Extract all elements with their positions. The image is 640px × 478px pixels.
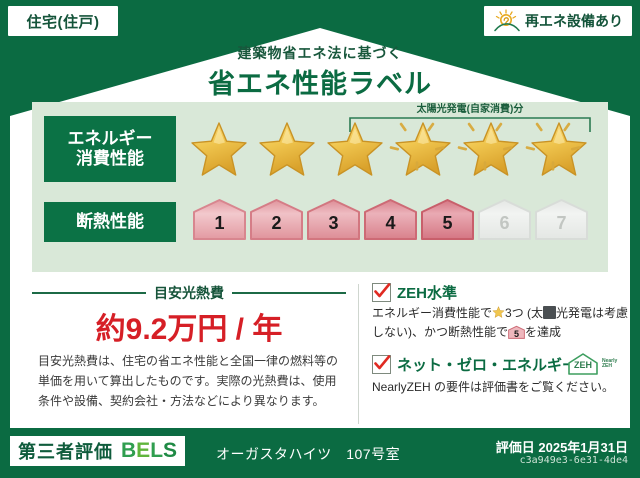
utility-cost-heading-text: 目安光熱費 [154,283,224,303]
bels-letter: L [150,439,163,462]
zeh-criterion-body: エネルギー消費性能で3つ (太光発電は考慮しない)、かつ断熱性能で5を達成 [372,304,630,342]
zeh-body-part4: を達成 [525,325,561,339]
label-subtitle: 建築物省エネ法に基づく [10,43,630,63]
insulation-level-number: 7 [534,213,589,234]
column-divider [358,284,359,424]
performance-panel: エネルギー 消費性能 断熱性能 太陽光発電(自家消費)分 1234567 [32,102,608,272]
energy-star-rating [188,114,594,186]
zeh-criterion-title: ZEH水準 [397,282,457,303]
net-zero-criterion-row: ネット・ゼロ・エネルギー ZEH Nearly ZEH [372,354,628,375]
inline-star-icon [492,306,505,319]
star-icon [392,120,454,182]
evaluation-id: c3a949e3-6e31-4de4 [388,455,628,466]
star-icon [528,120,590,182]
inline-insulation-level-icon: 5 [508,325,525,340]
zeh-logo-sub-line2: ZEH [602,364,617,370]
energy-star-2 [256,120,318,182]
evaluation-date: 評価日 2025年1月31日 [388,437,628,456]
utility-cost-value: 約9.2万円 / 年 [32,304,346,348]
bels-letter: S [163,439,177,462]
insulation-level-number: 5 [420,213,475,234]
insulation-level-6: 6 [477,198,532,242]
zeh-logo-icon: ZEH Nearly ZEH [566,352,622,376]
zeh-body-part1: エネルギー消費性能で [372,306,492,320]
insulation-level-7: 7 [534,198,589,242]
energy-consumption-row-label: エネルギー 消費性能 [44,116,176,182]
heading-rule-right [232,292,346,294]
bels-letter: B [121,439,136,462]
zeh-criterion-row: ZEH水準 [372,282,628,303]
insulation-level-number: 4 [363,213,418,234]
svg-text:ZEH: ZEH [574,360,592,370]
energy-star-1 [188,120,250,182]
label-content: 建築物省エネ法に基づく 省エネ性能ラベル エネルギー 消費性能 断熱性能 太陽光… [10,28,630,428]
insulation-row-label: 断熱性能 [44,202,176,242]
utility-cost-heading: 目安光熱費 [32,284,346,302]
net-zero-checkbox-checked-icon [372,355,391,374]
energy-star-5 [460,120,522,182]
star-icon [460,120,522,182]
insulation-level-number: 3 [306,213,361,234]
insulation-level-scale: 1234567 [192,198,592,250]
utility-cost-column: 目安光熱費 約9.2万円 / 年 目安光熱費は、住宅の省エネ性能と全国一律の燃料… [32,280,346,430]
footer-bar: 第三者評価 BELS オーガスタハイツ 107号室 評価日 2025年1月31日… [0,428,640,478]
bels-badge-ja-label: 第三者評価 [18,438,113,464]
insulation-level-number: 6 [477,213,532,234]
insulation-level-1: 1 [192,198,247,242]
energy-star-3 [324,120,386,182]
criteria-column: ZEH水準 エネルギー消費性能で3つ (太光発電は考慮しない)、かつ断熱性能で5… [372,280,628,430]
bels-badge: 第三者評価 BELS [10,436,185,466]
insulation-level-5: 5 [420,198,475,242]
energy-star-6 [528,120,590,182]
zeh-checkbox-checked-icon [372,283,391,302]
energy-performance-label: 住宅(住戸) 再エネ設備あり 建築物省エネ法に基づく 省エネ性能ラベル [0,0,640,478]
insulation-level-2: 2 [249,198,304,242]
star-icon [256,120,318,182]
zeh-body-part2: 3つ (太 [505,306,543,320]
star-icon [324,120,386,182]
star-icon [188,120,250,182]
label-title: 省エネ性能ラベル [10,62,630,101]
net-zero-criterion-title: ネット・ゼロ・エネルギー [397,354,577,375]
insulation-level-number: 2 [249,213,304,234]
bels-badge-en-label: BELS [121,439,177,463]
redacted-text-block [543,306,556,319]
bels-letter: E [136,439,150,462]
insulation-label-text: 断熱性能 [76,212,144,232]
energy-consumption-label-line1: エネルギー [68,129,153,149]
details-columns: 目安光熱費 約9.2万円 / 年 目安光熱費は、住宅の省エネ性能と全国一律の燃料… [32,280,628,430]
heading-rule-left [32,292,146,294]
insulation-level-number: 1 [192,213,247,234]
insulation-level-4: 4 [363,198,418,242]
insulation-level-3: 3 [306,198,361,242]
building-name: オーガスタハイツ 107号室 [216,444,400,464]
energy-consumption-label-line2: 消費性能 [76,149,144,169]
utility-cost-note: 目安光熱費は、住宅の省エネ性能と全国一律の燃料等の単価を用いて算出したものです。… [38,352,340,411]
energy-star-4 [392,120,454,182]
net-zero-criterion-body: NearlyZEH の要件は評価書をご覧ください。 [372,378,630,397]
